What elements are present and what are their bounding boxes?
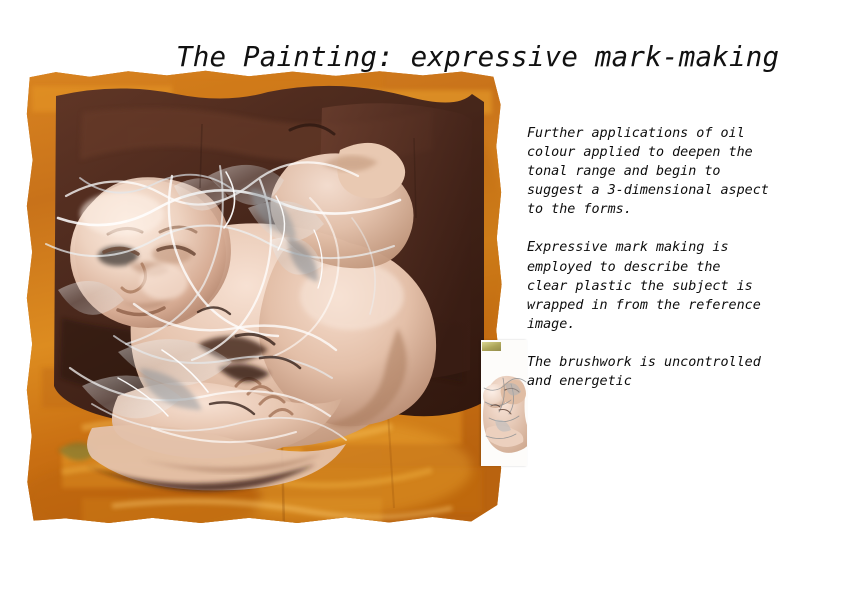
paragraph-mark-making: Expressive mark making is employed to de… xyxy=(527,238,827,333)
artwork-image xyxy=(22,68,505,528)
artwork-rendering xyxy=(22,68,505,528)
page-title: The Painting: expressive mark-making xyxy=(176,40,779,74)
description-text-block: Further applications of oil colour appli… xyxy=(527,124,827,391)
paragraph-brushwork: The brushwork is uncontrolled and energe… xyxy=(527,353,827,391)
painting-figure xyxy=(22,68,505,528)
reference-image-rendering xyxy=(481,340,527,466)
paragraph-oil-colour: Further applications of oil colour appli… xyxy=(527,124,827,219)
tape-strip-icon xyxy=(482,342,501,351)
reference-photograph-inset xyxy=(481,340,527,466)
